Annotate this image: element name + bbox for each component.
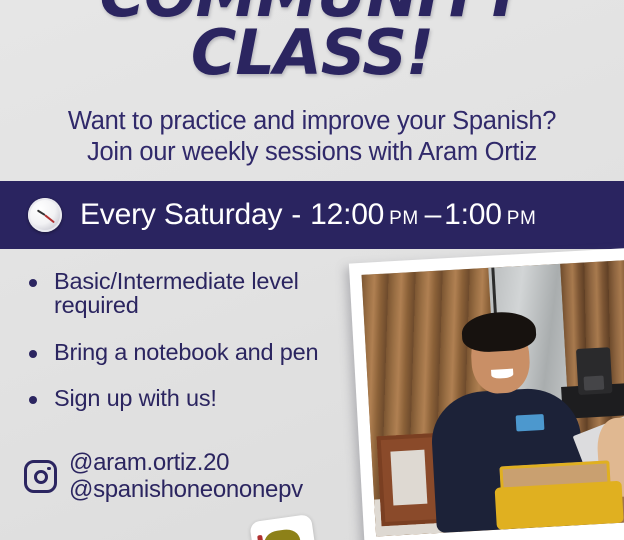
subtitle: Want to practice and improve your Spanis… [0,106,624,168]
photo-coffee-machine [576,348,613,396]
schedule-start-meridiem: PM [389,208,419,230]
schedule-end-meridiem: PM [507,208,537,230]
flyer-canvas: COMMUNITY CLASS! Want to practice and im… [0,0,624,540]
instructor-photo-frame [349,247,624,540]
instagram-handle-personal[interactable]: @aram.ortiz.20 [69,450,303,477]
social-handles[interactable]: @aram.ortiz.20 @spanishoneononepv [24,450,303,504]
schedule-end-time: 1:00 [444,198,502,232]
schedule-separator: - [291,198,301,232]
instagram-handle-school[interactable]: @spanishoneononepv [69,477,303,504]
list-item: Sign up with us! [22,386,352,410]
schedule-day: Every Saturday [80,198,282,232]
schedule-banner: Every Saturday - 12:00 PM – 1:00 PM [0,181,624,249]
photo-shirt-logo [516,414,544,431]
photo-laptop-base [495,481,624,530]
instructor-photo [362,260,624,537]
handle-list: @aram.ortiz.20 @spanishoneononepv [69,450,303,504]
list-item: Bring a notebook and pen [22,340,352,364]
schedule-text: Every Saturday - 12:00 PM – 1:00 PM [80,198,542,232]
page-title: COMMUNITY CLASS! [0,0,624,83]
subtitle-line-1: Want to practice and improve your Spanis… [0,106,624,137]
title-line-2: CLASS! [0,24,624,82]
schedule-start-time: 12:00 [310,198,384,232]
list-item: Basic/Intermediate level required [22,269,352,318]
sticker-accent [257,535,264,540]
instagram-icon[interactable] [24,460,57,493]
decorative-sticker [249,514,317,540]
schedule-range-dash: – [425,198,442,232]
clock-icon [28,198,62,232]
requirements-list: Basic/Intermediate level required Bring … [22,269,352,433]
subtitle-line-2: Join our weekly sessions with Aram Ortiz [0,137,624,168]
